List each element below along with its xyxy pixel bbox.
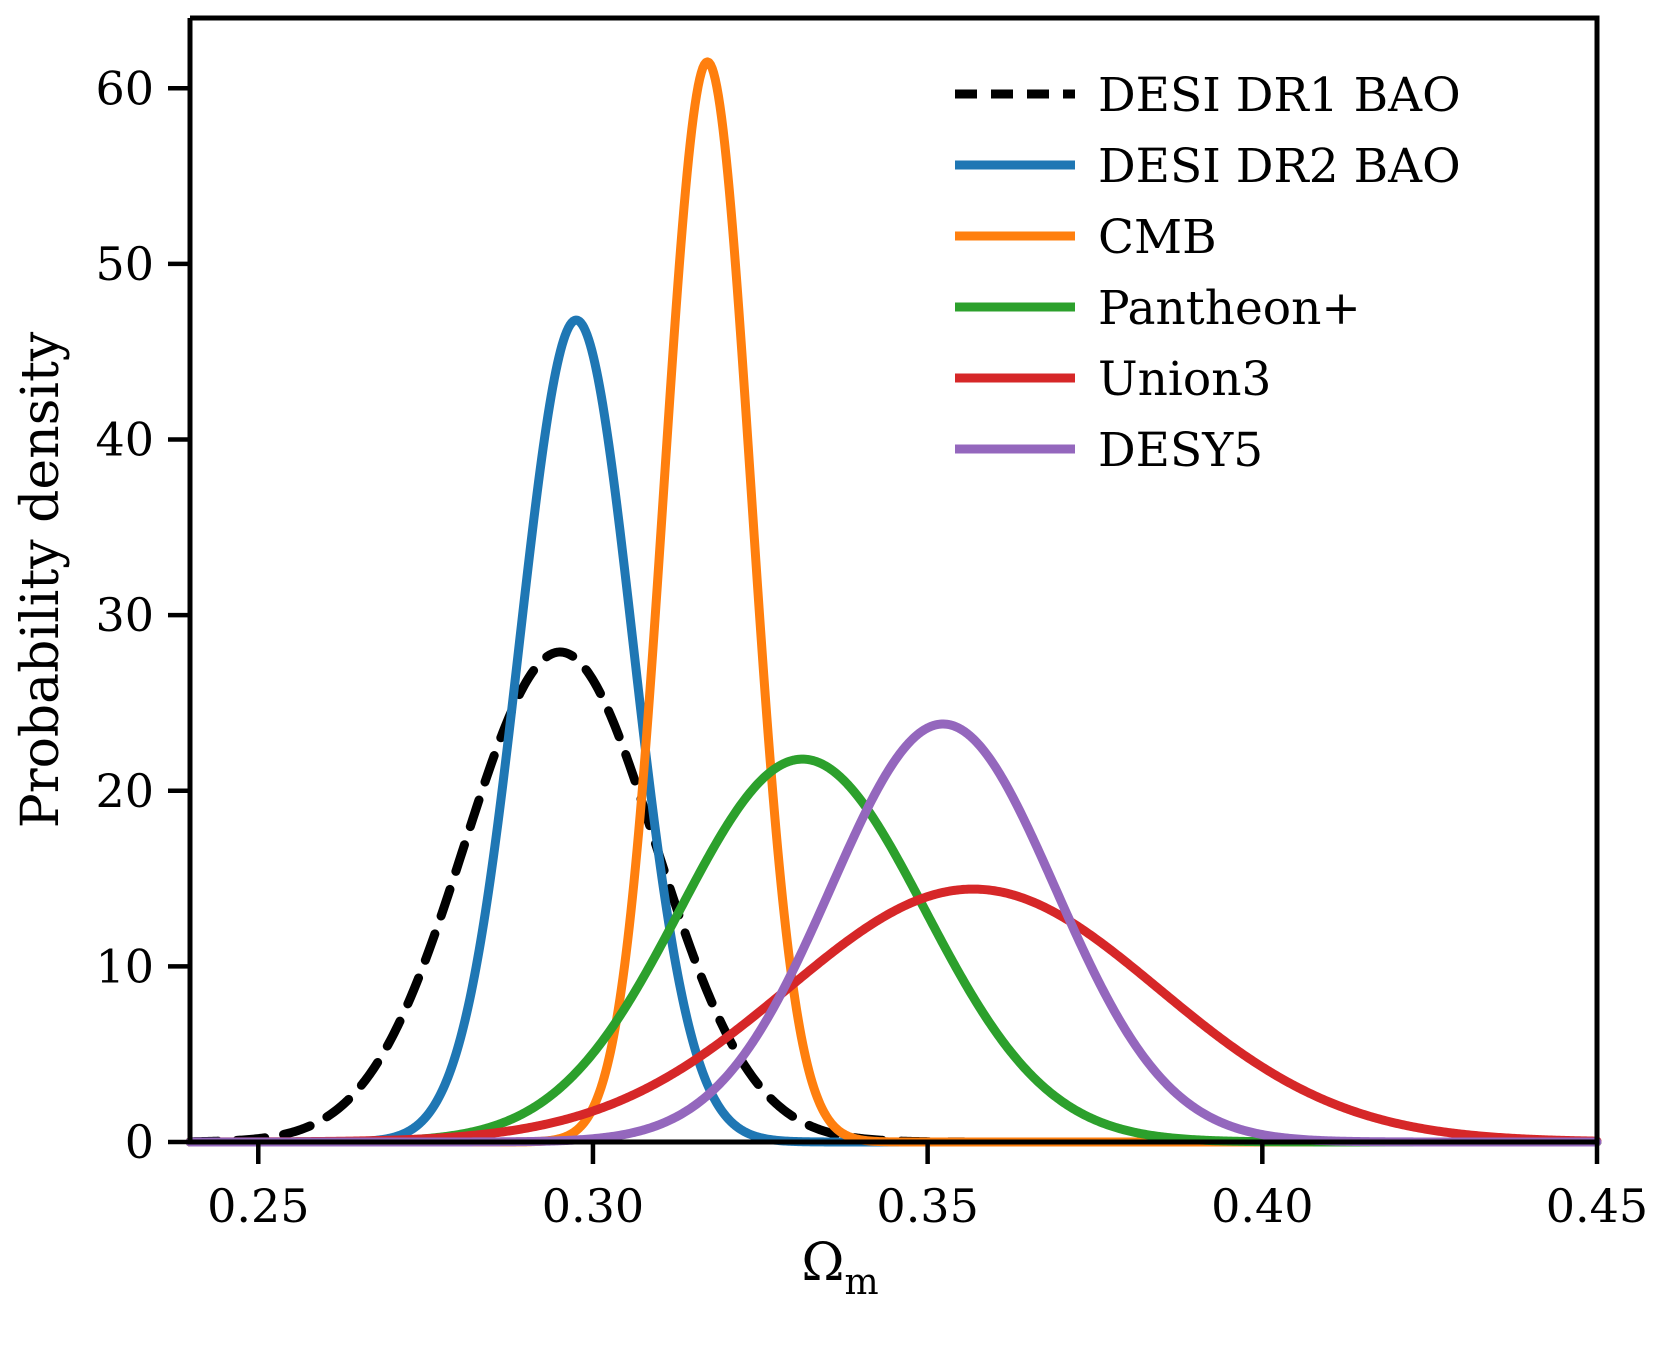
- x-tick-label: 0.25: [207, 1179, 309, 1233]
- legend-label-union3: Union3: [1098, 352, 1271, 407]
- figure-canvas: 0.250.300.350.400.45 0102030405060 Proba…: [0, 0, 1678, 1350]
- y-tick-label: 30: [95, 588, 154, 642]
- y-tick-group: 0102030405060: [95, 61, 190, 1169]
- x-axis-label: Ωm: [801, 1233, 878, 1303]
- y-tick-label: 40: [95, 413, 154, 467]
- x-tick-label: 0.45: [1546, 1179, 1648, 1233]
- y-tick-label: 60: [95, 61, 154, 115]
- legend-label-desy5: DESY5: [1098, 423, 1263, 478]
- x-tick-label: 0.30: [542, 1179, 644, 1233]
- x-axis-label-omega: Ω: [801, 1233, 844, 1293]
- probability-density-plot: 0.250.300.350.400.45 0102030405060 Proba…: [0, 0, 1678, 1350]
- legend-label-desi-dr2-bao: DESI DR2 BAO: [1098, 139, 1461, 194]
- y-tick-label: 50: [95, 237, 154, 291]
- legend-label-pantheon: Pantheon+: [1098, 281, 1361, 336]
- y-axis-label: Probability density: [11, 331, 71, 828]
- x-tick-label: 0.40: [1211, 1179, 1313, 1233]
- legend-label-cmb: CMB: [1098, 210, 1217, 265]
- y-tick-label: 20: [95, 764, 154, 818]
- legend-label-desi-dr1-bao: DESI DR1 BAO: [1098, 68, 1461, 123]
- x-tick-group: 0.250.300.350.400.45: [207, 1142, 1648, 1233]
- x-axis-label-subscript: m: [844, 1262, 878, 1303]
- y-tick-label: 0: [125, 1115, 154, 1169]
- x-tick-label: 0.35: [876, 1179, 978, 1233]
- y-tick-label: 10: [95, 939, 154, 993]
